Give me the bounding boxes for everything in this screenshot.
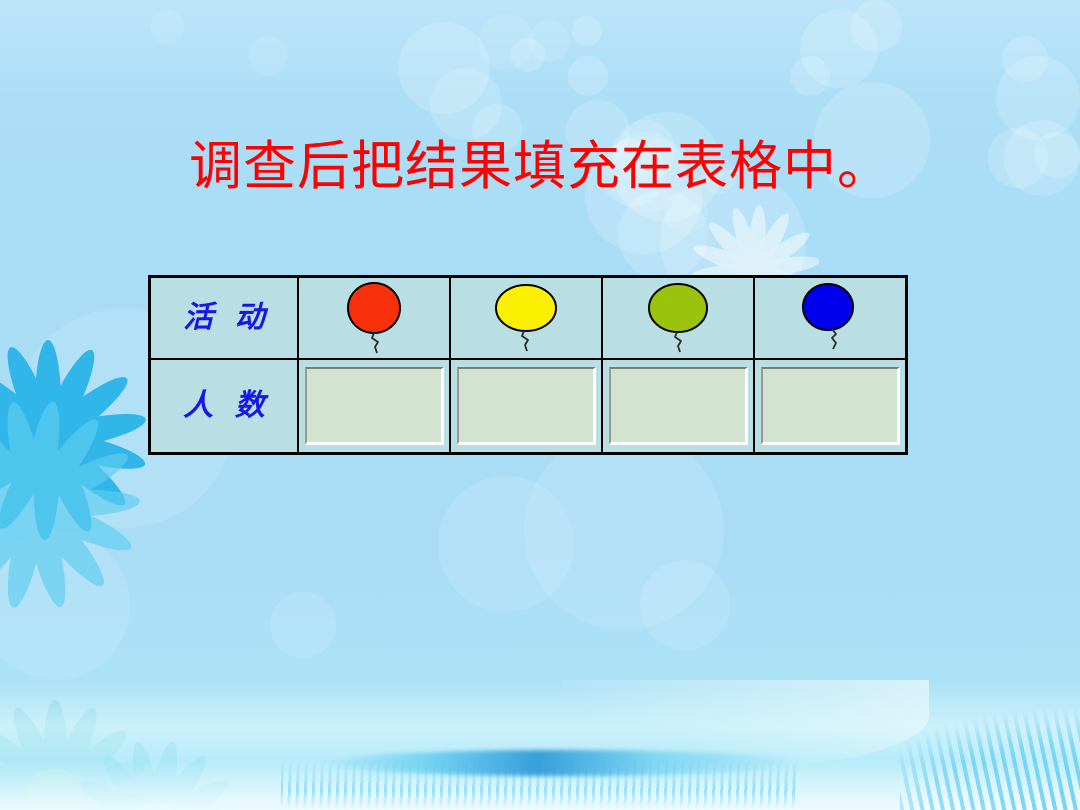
bubble: [478, 14, 534, 70]
bubble: [1002, 36, 1048, 82]
count-cell-blue[interactable]: [754, 359, 907, 454]
answer-box-red[interactable]: [305, 367, 444, 445]
page-title: 调查后把结果填充在表格中。: [0, 138, 1080, 196]
water-spray-right: [900, 700, 1080, 810]
balloon-icon: [480, 280, 572, 356]
row-label-count-cell: 人 数: [150, 359, 299, 454]
table-row-count: 人 数: [150, 359, 907, 454]
row-label-activity: 活 动: [151, 303, 297, 333]
bubble: [511, 38, 545, 72]
water-band-decoration: [0, 690, 1080, 810]
activity-cell-red[interactable]: [298, 277, 450, 360]
bubble: [248, 36, 288, 76]
balloon-icon: [784, 280, 876, 356]
table-row-activity: 活 动: [150, 277, 907, 360]
count-cell-red[interactable]: [298, 359, 450, 454]
balloon-blue-wrapper: [755, 278, 905, 358]
answer-box-blue[interactable]: [761, 367, 900, 445]
balloon-icon: [632, 280, 724, 356]
slide-canvas: 调查后把结果填充在表格中。 活 动: [0, 0, 1080, 810]
bubble: [640, 560, 730, 650]
answer-box-yellow[interactable]: [457, 367, 596, 445]
count-cell-yellow[interactable]: [450, 359, 602, 454]
blue-daisy-icon: [0, 400, 140, 610]
balloon-red-wrapper: [299, 278, 449, 358]
count-cell-green[interactable]: [602, 359, 754, 454]
bubble: [438, 476, 574, 612]
bubble: [270, 592, 336, 658]
bubble: [150, 10, 184, 44]
bubble: [568, 56, 608, 96]
bubble: [790, 56, 830, 96]
activity-cell-green[interactable]: [602, 277, 754, 360]
balloon-yellow-wrapper: [451, 278, 601, 358]
bubble: [996, 56, 1080, 140]
bubble: [850, 0, 902, 52]
balloon-green-wrapper: [603, 278, 753, 358]
bubble: [572, 16, 602, 46]
bubble: [524, 430, 724, 630]
bubble: [398, 22, 490, 114]
answer-box-green[interactable]: [609, 367, 748, 445]
activity-cell-blue[interactable]: [754, 277, 907, 360]
activity-cell-yellow[interactable]: [450, 277, 602, 360]
bubble: [800, 10, 878, 88]
bubble: [430, 68, 502, 140]
row-label-count: 人 数: [151, 391, 297, 421]
water-streak: [324, 750, 799, 776]
row-label-activity-cell: 活 动: [150, 277, 299, 360]
survey-table: 活 动: [148, 275, 908, 455]
balloon-icon: [328, 280, 420, 356]
bubble: [528, 20, 570, 62]
